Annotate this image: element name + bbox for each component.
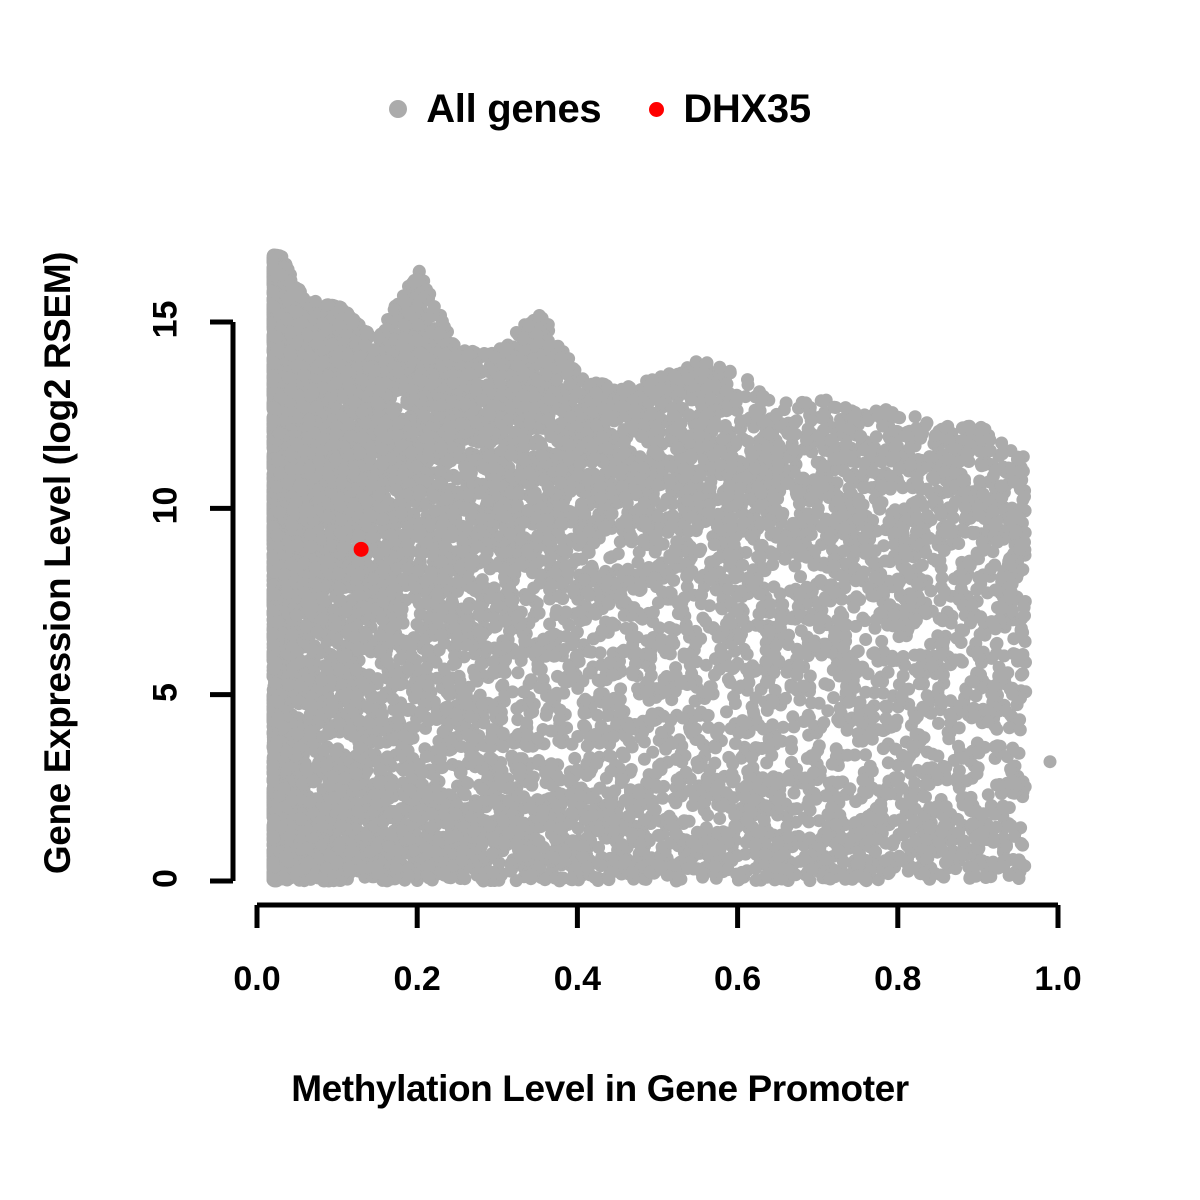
x-tick-label: 0.4 bbox=[517, 960, 637, 999]
y-tick-label: 0 bbox=[147, 839, 186, 919]
plot-canvas bbox=[0, 0, 1200, 1200]
data-points-layer bbox=[267, 249, 1057, 888]
scatter-plot-figure: All genes DHX35 Gene Expression Level (l… bbox=[0, 0, 1200, 1200]
y-tick-label: 15 bbox=[147, 280, 186, 360]
highlight-point-layer bbox=[354, 542, 369, 557]
x-tick-label: 0.6 bbox=[678, 960, 798, 999]
x-tick-label: 0.0 bbox=[197, 960, 317, 999]
x-tick-label: 1.0 bbox=[998, 960, 1118, 999]
x-tick-label: 0.2 bbox=[357, 960, 477, 999]
highlight-point-dhx35 bbox=[354, 542, 369, 557]
y-tick-label: 5 bbox=[147, 652, 186, 732]
x-tick-label: 0.8 bbox=[838, 960, 958, 999]
y-tick-label: 10 bbox=[147, 466, 186, 546]
